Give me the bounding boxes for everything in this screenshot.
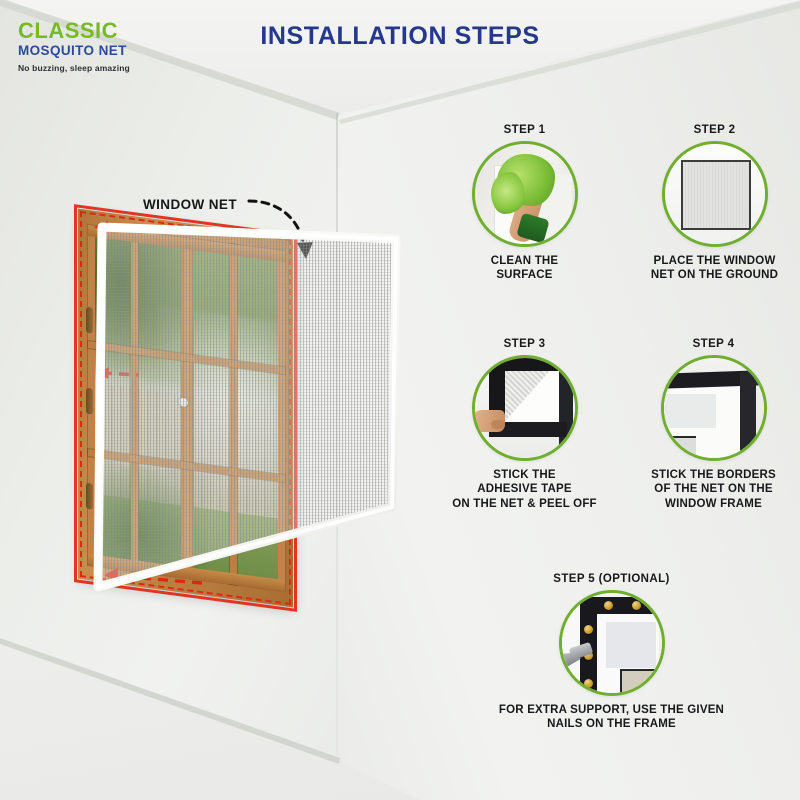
step-5-caption-line-1: FOR EXTRA SUPPORT, USE THE GIVEN (484, 703, 739, 717)
step-1-illustration (472, 141, 578, 247)
step-2-caption-line-2: NET ON THE GROUND (637, 268, 792, 282)
step-1-caption-line-1: CLEAN THE (462, 254, 587, 268)
step-3-caption-line-3: ON THE NET & PEEL OFF (452, 497, 597, 511)
net-border-right (740, 372, 756, 461)
folded-net-square-icon (665, 144, 765, 244)
step-1-caption: CLEAN THE SURFACE (462, 254, 587, 283)
step-2-illustration (662, 141, 768, 247)
step-3-caption-line-1: STICK THE (452, 468, 597, 482)
window-pane-upper (661, 394, 716, 428)
nail-1 (604, 601, 613, 610)
cleaning-cloth-hand-icon (475, 144, 575, 244)
nail-5 (584, 679, 593, 688)
step-4-caption-line-2: OF THE NET ON THE (636, 482, 791, 496)
step-card-5[interactable]: STEP 5 (OPTIONAL) (484, 573, 739, 732)
nail-2 (632, 601, 641, 610)
step-5-illustration (559, 590, 665, 696)
window-pane-lower (661, 436, 696, 461)
steps-panel: STEP 1 CLEAN THE SURFACE STEP 2 (0, 0, 800, 800)
step-4-caption: STICK THE BORDERS OF THE NET ON THE WIND… (636, 468, 791, 511)
step-2-caption: PLACE THE WINDOW NET ON THE GROUND (637, 254, 792, 283)
step-5-title: STEP 5 (OPTIONAL) (484, 573, 739, 585)
nail-3 (584, 625, 593, 634)
step-card-4[interactable]: STEP 4 STICK THE BORDERS OF THE NET ON T… (636, 338, 791, 511)
net-border-on-frame-icon (664, 358, 764, 458)
step-1-caption-line-2: SURFACE (462, 268, 587, 282)
step-2-caption-line-1: PLACE THE WINDOW (637, 254, 792, 268)
step-5-caption: FOR EXTRA SUPPORT, USE THE GIVEN NAILS O… (484, 703, 739, 732)
net-frame-right (559, 358, 573, 458)
step-1-title: STEP 1 (462, 124, 587, 136)
step-3-caption-line-2: ADHESIVE TAPE (452, 482, 597, 496)
step-3-title: STEP 3 (452, 338, 597, 350)
step-4-caption-line-3: WINDOW FRAME (636, 497, 791, 511)
step-card-3[interactable]: STEP 3 STICK THE ADHESIVE TAPE ON THE NE… (452, 338, 597, 511)
window-pane (606, 622, 656, 668)
peel-adhesive-tape-icon (475, 358, 575, 458)
infographic-canvas: CLASSIC MOSQUITO NET No buzzing, sleep a… (0, 0, 800, 800)
step-3-caption: STICK THE ADHESIVE TAPE ON THE NET & PEE… (452, 468, 597, 511)
step-2-title: STEP 2 (637, 124, 792, 136)
window-pane-lower (620, 669, 662, 695)
step-card-2[interactable]: STEP 2 PLACE THE WINDOW NET ON THE GROUN… (637, 124, 792, 283)
step-5-caption-line-2: NAILS ON THE FRAME (484, 717, 739, 731)
fingers (491, 420, 505, 429)
step-4-caption-line-1: STICK THE BORDERS (636, 468, 791, 482)
green-cloth-fold (491, 172, 525, 214)
step-3-illustration (472, 355, 578, 461)
step-4-title: STEP 4 (636, 338, 791, 350)
hammer-and-nails-icon (562, 593, 662, 693)
net-square (681, 160, 751, 230)
step-card-1[interactable]: STEP 1 CLEAN THE SURFACE (462, 124, 587, 283)
step-4-illustration (661, 355, 767, 461)
